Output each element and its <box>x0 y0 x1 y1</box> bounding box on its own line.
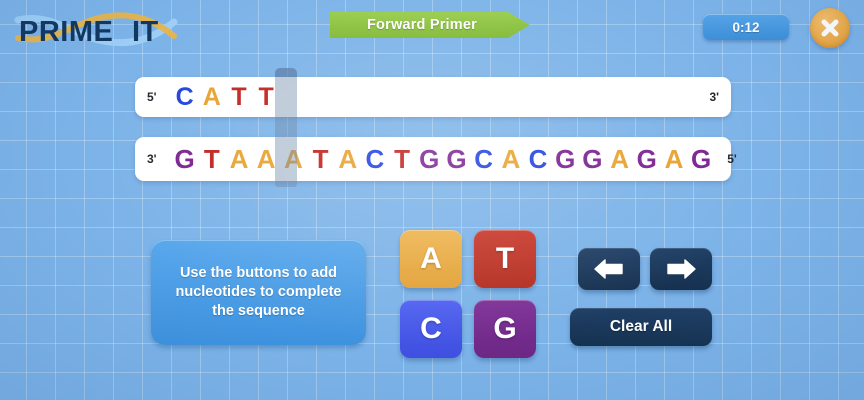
base-t: T <box>389 146 416 172</box>
base-t: T <box>253 85 280 110</box>
primer-left-end-label: 5' <box>147 90 169 104</box>
clear-all-button[interactable]: Clear All <box>570 308 712 346</box>
base-g: G <box>579 146 606 172</box>
svg-text:PRIME: PRIME <box>19 16 113 48</box>
close-x-icon <box>819 17 841 39</box>
app-logo: PRIME IT <box>14 8 184 50</box>
nucleotide-button-a[interactable]: A <box>400 230 462 288</box>
nucleotide-button-t[interactable]: T <box>474 230 536 288</box>
base-g: G <box>552 146 579 172</box>
template-bases: GTAAATACTGGCACGGAGAG <box>169 137 715 181</box>
game-screen: PRIME IT Forward Primer 0:12 5' CATT 3' … <box>0 0 864 400</box>
nucleotide-button-c[interactable]: C <box>400 300 462 358</box>
timer-display: 0:12 <box>703 14 789 40</box>
template-left-end-label: 3' <box>147 152 169 166</box>
nucleotide-button-g[interactable]: G <box>474 300 536 358</box>
template-strand-row: 3' GTAAATACTGGCACGGAGAG 5' <box>135 137 731 181</box>
svg-text:IT: IT <box>132 16 159 48</box>
base-c: C <box>524 146 551 172</box>
primer-right-end-label: 3' <box>697 90 719 104</box>
arrow-left-icon <box>592 257 626 281</box>
move-forward-button[interactable] <box>650 248 712 290</box>
base-c: C <box>171 85 198 110</box>
base-t: T <box>198 146 225 172</box>
base-g: G <box>443 146 470 172</box>
base-c: C <box>361 146 388 172</box>
base-a: A <box>497 146 524 172</box>
base-a: A <box>660 146 687 172</box>
base-a: A <box>253 146 280 172</box>
stage-banner: Forward Primer <box>330 12 530 38</box>
primer-strand-row: 5' CATT 3' <box>135 77 731 117</box>
nucleotide-button-grid: A T C G <box>400 230 538 358</box>
primer-bases: CATT <box>169 77 697 117</box>
base-a: A <box>606 146 633 172</box>
base-t: T <box>225 85 252 110</box>
base-g: G <box>171 146 198 172</box>
base-a: A <box>280 146 307 172</box>
template-right-end-label: 5' <box>715 152 737 166</box>
base-g: G <box>633 146 660 172</box>
base-g: G <box>688 146 715 172</box>
base-a: A <box>334 146 361 172</box>
move-back-button[interactable] <box>578 248 640 290</box>
base-a: A <box>225 146 252 172</box>
instruction-box: Use the buttons to add nucleotides to co… <box>151 240 366 345</box>
base-g: G <box>416 146 443 172</box>
base-t: T <box>307 146 334 172</box>
base-a: A <box>198 85 225 110</box>
arrow-right-icon <box>664 257 698 281</box>
close-button[interactable] <box>810 8 850 48</box>
base-c: C <box>470 146 497 172</box>
